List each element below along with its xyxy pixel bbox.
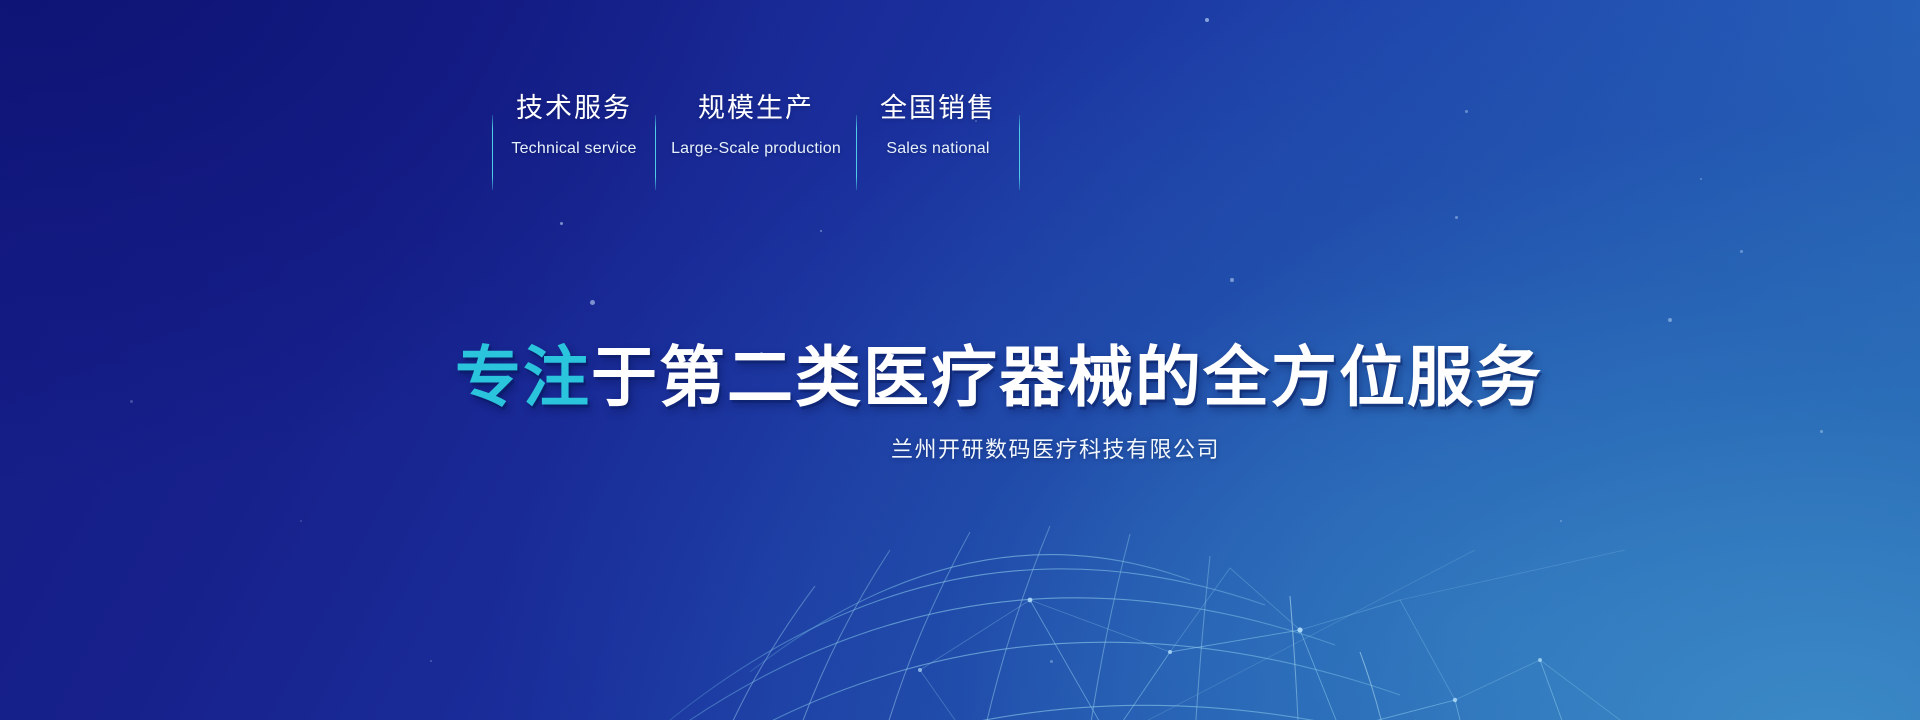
nav-item-technical-service[interactable]: 技术服务 Technical service	[493, 60, 655, 190]
nav-item-label-cn: 全国销售	[880, 92, 996, 126]
headline-accent-text: 专注	[455, 339, 591, 416]
nav-divider-3	[1019, 115, 1020, 190]
nav-item-label-en: Sales national	[886, 139, 989, 158]
nav-item-label-cn: 规模生产	[698, 92, 814, 126]
company-name-subtitle: 兰州开研数码医疗科技有限公司	[0, 437, 1920, 463]
nav-item-label-cn: 技术服务	[516, 92, 632, 126]
nav-item-sales-national[interactable]: 全国销售 Sales national	[857, 60, 1019, 190]
feature-nav: 技术服务 Technical service 规模生产 Large-Scale …	[492, 60, 1020, 190]
headline-main-text: 于第二类医疗器械的全方位服务	[591, 339, 1543, 416]
nav-item-large-scale-production[interactable]: 规模生产 Large-Scale production	[656, 60, 856, 190]
hero-banner: 技术服务 Technical service 规模生产 Large-Scale …	[0, 0, 1920, 720]
nav-item-label-en: Technical service	[511, 139, 636, 158]
hero-headline: 专注于第二类医疗器械的全方位服务	[455, 345, 1543, 411]
nav-item-label-en: Large-Scale production	[671, 139, 841, 158]
